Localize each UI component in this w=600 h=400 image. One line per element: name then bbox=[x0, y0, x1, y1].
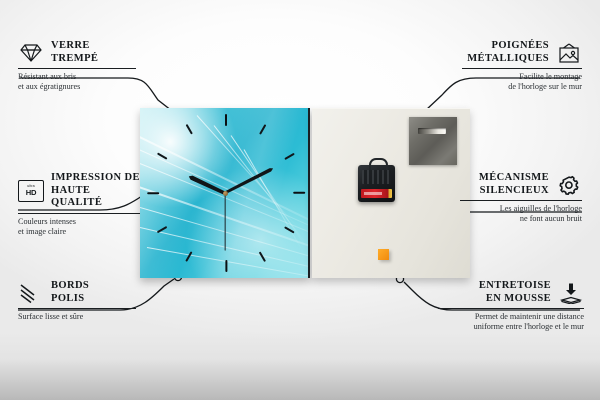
clock-second-hand bbox=[224, 193, 225, 251]
callout-entretoise-en-mousse: ENTRETOISEEN MOUSSE Permet de maintenir … bbox=[438, 280, 584, 332]
mechanism-housing bbox=[362, 170, 391, 184]
hanger-loop bbox=[369, 158, 388, 170]
gear-icon bbox=[556, 174, 582, 196]
infographic-canvas: VERRETREMPÉ Résistant aux briset aux égr… bbox=[0, 0, 600, 400]
clock-mechanism bbox=[358, 165, 395, 202]
picture-hanger-icon bbox=[556, 42, 582, 64]
clock-dial bbox=[140, 108, 310, 278]
clock-minute-hand bbox=[224, 167, 274, 195]
clock-tick bbox=[284, 226, 294, 233]
arrow-down-onto-surface-icon bbox=[558, 282, 584, 304]
clock-tick bbox=[284, 153, 294, 160]
clock-front-panel bbox=[140, 108, 310, 278]
hanger-slot bbox=[418, 128, 446, 134]
callout-description: Surface lisse et sûre bbox=[18, 312, 136, 322]
callout-bords-polis: BORDSPOLIS Surface lisse et sûre bbox=[18, 280, 136, 322]
clock-tick bbox=[186, 124, 193, 134]
callout-title: MÉCANISMESILENCIEUX bbox=[479, 172, 549, 197]
callout-rule bbox=[462, 68, 582, 69]
clock-tick bbox=[157, 226, 167, 233]
callout-impression-haute-qualite: ultra HD IMPRESSION DEHAUTE QUALITÉ Coul… bbox=[18, 172, 140, 237]
foam-spacer bbox=[378, 249, 389, 260]
ultra-hd-badge-icon: ultra HD bbox=[18, 180, 44, 202]
clock-tick bbox=[259, 124, 266, 134]
metal-hanger-plate bbox=[409, 117, 457, 165]
callout-description: Les aiguilles de l'horlogene font aucun … bbox=[460, 204, 582, 224]
callout-rule bbox=[438, 308, 584, 309]
callout-title: VERRETREMPÉ bbox=[51, 40, 98, 65]
clock-tick bbox=[157, 153, 167, 160]
callout-description: Couleurs intenseset image claire bbox=[18, 217, 140, 237]
clock-tick bbox=[186, 251, 193, 261]
clock-tick bbox=[293, 192, 305, 194]
diamond-icon bbox=[18, 42, 44, 64]
callout-rule bbox=[460, 200, 582, 201]
clock-hour-hand bbox=[188, 174, 226, 195]
callout-verre-trempe: VERRETREMPÉ Résistant aux briset aux égr… bbox=[18, 40, 136, 92]
callout-rule bbox=[18, 213, 140, 214]
clock-tick bbox=[259, 251, 266, 261]
callout-description: Résistant aux briset aux égratignures bbox=[18, 72, 136, 92]
product-photo bbox=[140, 108, 470, 278]
callout-rule bbox=[18, 68, 136, 69]
diagonal-lines-icon bbox=[18, 282, 44, 304]
callout-description: Facilite le montagede l'horloge sur le m… bbox=[462, 72, 582, 92]
clock-tick bbox=[225, 114, 227, 126]
callout-title: IMPRESSION DEHAUTE QUALITÉ bbox=[51, 172, 140, 210]
clock-back-panel bbox=[312, 108, 470, 278]
callout-description: Permet de maintenir une distanceuniforme… bbox=[438, 312, 584, 332]
callout-rule bbox=[18, 308, 136, 309]
clock-tick bbox=[147, 192, 159, 194]
callout-title: BORDSPOLIS bbox=[51, 280, 89, 305]
callout-mecanisme-silencieux: MÉCANISMESILENCIEUX Les aiguilles de l'h… bbox=[460, 172, 582, 224]
clock-center-hub bbox=[223, 191, 228, 196]
callout-title: POIGNÉESMÉTALLIQUES bbox=[467, 40, 549, 65]
battery bbox=[361, 189, 392, 198]
callout-poignees-metalliques: POIGNÉESMÉTALLIQUES Facilite le montaged… bbox=[462, 40, 582, 92]
callout-title: ENTRETOISEEN MOUSSE bbox=[479, 280, 551, 305]
clock-tick bbox=[225, 260, 227, 272]
